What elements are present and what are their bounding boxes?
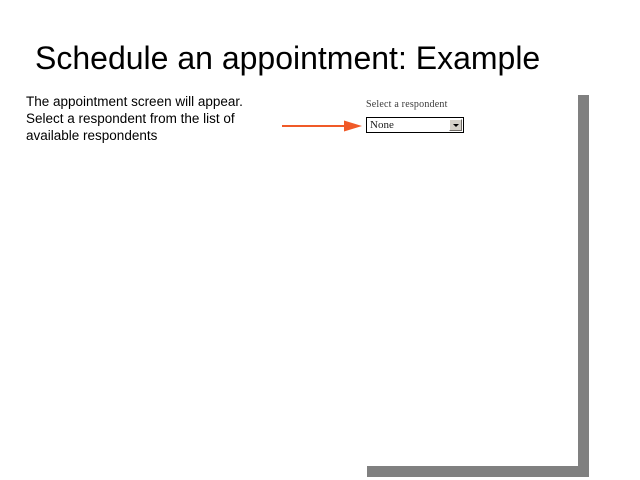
body-text: The appointment screen will appear. Sele… bbox=[26, 93, 254, 144]
screenshot-frame-right-edge bbox=[578, 95, 589, 477]
respondent-label: Select a respondent bbox=[366, 99, 476, 111]
respondent-select-value: None bbox=[370, 119, 394, 132]
respondent-select[interactable]: None bbox=[366, 117, 464, 133]
page-title: Schedule an appointment: Example bbox=[35, 38, 615, 78]
screenshot-frame-bottom-edge bbox=[367, 466, 589, 477]
arrow-right-icon bbox=[282, 119, 366, 133]
chevron-down-icon[interactable] bbox=[449, 119, 462, 131]
slide: Schedule an appointment: Example The app… bbox=[0, 0, 640, 480]
respondent-form-group: Select a respondent None bbox=[366, 99, 476, 133]
